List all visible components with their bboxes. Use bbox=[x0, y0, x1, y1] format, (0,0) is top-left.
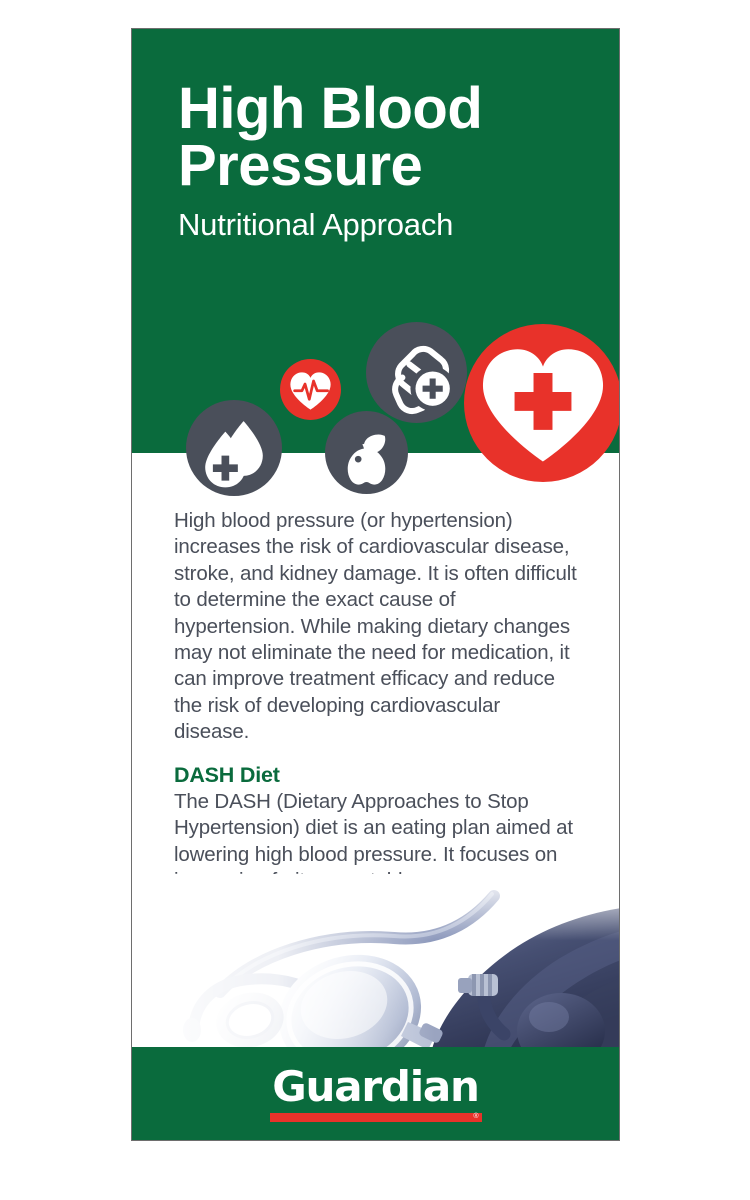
stethoscope-blood-pressure-cuff-photo bbox=[132, 874, 620, 1049]
logo-underline-bar: ® bbox=[270, 1113, 482, 1122]
icon-cluster bbox=[132, 269, 620, 529]
guardian-logo: Guardian ® bbox=[270, 1066, 482, 1122]
intro-paragraph: High blood pressure (or hypertension) in… bbox=[174, 508, 579, 746]
card-footer: Guardian ® bbox=[132, 1047, 619, 1140]
page-subtitle: Nutritional Approach bbox=[178, 209, 598, 242]
heart-cross-icon bbox=[464, 324, 620, 482]
title-block: High Blood Pressure Nutritional Approach bbox=[178, 81, 598, 241]
poster-canvas: High Blood Pressure Nutritional Approach bbox=[0, 0, 750, 1200]
section-heading: DASH Diet bbox=[174, 763, 584, 788]
logo-wordmark: Guardian bbox=[270, 1066, 482, 1108]
page-title: High Blood Pressure bbox=[178, 81, 598, 195]
blood-drop-plus-icon bbox=[186, 400, 282, 496]
info-card: High Blood Pressure Nutritional Approach bbox=[131, 28, 620, 1141]
registered-trademark-icon: ® bbox=[473, 1112, 478, 1121]
pills-plus-icon bbox=[366, 322, 467, 423]
card-content: High blood pressure (or hypertension) in… bbox=[132, 453, 619, 1049]
apple-icon bbox=[325, 411, 408, 494]
